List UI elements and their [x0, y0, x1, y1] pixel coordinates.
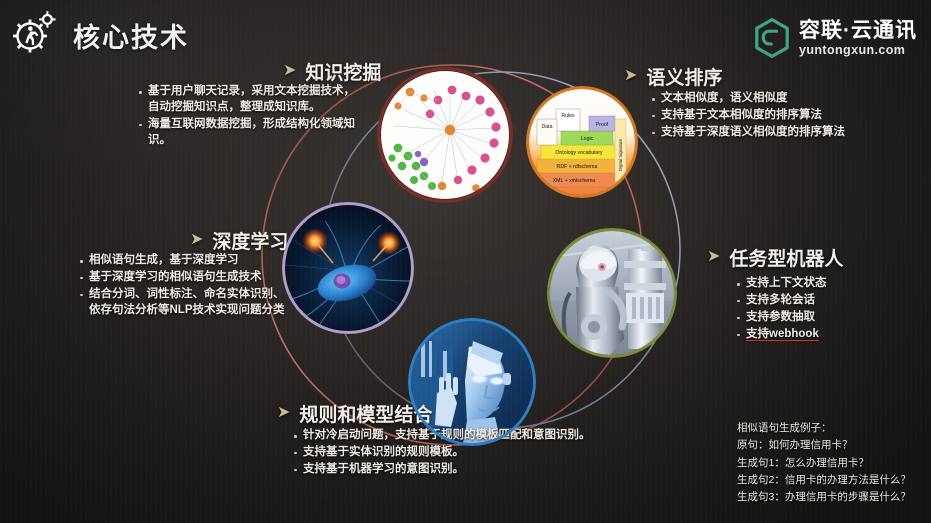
chevron-right-icon: ➤: [283, 63, 296, 79]
list-item: 支持基于文本相似度的排序算法: [650, 108, 925, 124]
example-line: 生成句3：办理信用卡的步骤是什么？: [737, 489, 927, 506]
bullets-deep-learning: 相似语句生成，基于深度学习 基于深度学习的相似语句生成技术 结合分词、词性标注、…: [78, 253, 293, 319]
list-item: 基于用户聊天记录，采用文本挖掘技术，自动挖掘知识点，整理成知识库。: [137, 84, 359, 116]
example-title: 相似语句生成例子：: [737, 420, 927, 437]
list-item: 文本相似度，语义相似度: [650, 91, 925, 107]
example-panel: 相似语句生成例子： 原句：如何办理信用卡？ 生成句1：怎么办理信用卡？ 生成句2…: [737, 420, 927, 507]
chevron-right-icon: ➤: [624, 68, 637, 84]
heading-text: 知识挖掘: [305, 58, 381, 85]
heading-rules-and-models: ➤ 规则和模型结合: [277, 400, 432, 427]
heading-task-robot: ➤ 任务型机器人: [707, 244, 843, 271]
heading-text: 语义排序: [646, 63, 722, 90]
bullets-task-robot: 支持上下文状态 支持多轮会话 支持参数抽取 支持webhook: [735, 276, 930, 343]
blue-robot-ring: [408, 318, 536, 446]
list-item: 支持基于实体识别的规则模板。: [292, 445, 592, 461]
bullets-knowledge-mining: 基于用户聊天记录，采用文本挖掘技术，自动挖掘知识点，整理成知识库。 海量互联网数…: [137, 84, 359, 149]
example-line: 生成句1：怎么办理信用卡？: [737, 455, 927, 472]
knowledge-graph-ring: [377, 67, 513, 203]
slide-core-technology: 核心技术 容联·云通讯 yuntongxun.com: [0, 0, 931, 523]
list-item: 基于深度学习的相似语句生成技术: [78, 270, 293, 286]
blue-robot-image: [408, 318, 536, 446]
list-item: 支持webhook: [735, 327, 930, 343]
list-item: 海量互联网数据挖掘，形成结构化领域知识。: [137, 117, 359, 149]
semantic-web-ring: [526, 86, 638, 198]
list-item: 支持参数抽取: [735, 310, 930, 326]
heading-semantic-ranking: ➤ 语义排序: [624, 63, 722, 90]
list-item: 结合分词、词性标注、命名实体识别、依存句法分析等NLP技术实现问题分类: [78, 287, 293, 319]
example-line: 生成句2：信用卡的办理方法是什么？: [737, 472, 927, 489]
heading-text: 任务型机器人: [729, 244, 843, 271]
chevron-right-icon: ➤: [277, 405, 290, 421]
heading-deep-learning: ➤ 深度学习: [190, 227, 288, 254]
list-item: 支持基于机器学习的意图识别。: [292, 462, 592, 478]
knowledge-graph-image: [377, 67, 513, 203]
chevron-right-icon: ➤: [707, 249, 720, 265]
chevron-right-icon: ➤: [190, 232, 203, 248]
list-item: 支持多轮会话: [735, 293, 930, 309]
robot-ring: [547, 228, 677, 358]
list-item-underlined: 支持webhook: [746, 328, 819, 341]
list-item: 支持上下文状态: [735, 276, 930, 292]
heading-knowledge-mining: ➤ 知识挖掘: [283, 58, 381, 85]
heading-text: 深度学习: [212, 227, 288, 254]
bullets-semantic-ranking: 文本相似度，语义相似度 支持基于文本相似度的排序算法 支持基于深度语义相似度的排…: [650, 91, 925, 142]
example-line: 原句：如何办理信用卡？: [737, 437, 927, 454]
list-item: 支持基于深度语义相似度的排序算法: [650, 125, 925, 141]
neuron-ring: [282, 202, 414, 334]
semantic-web-image: XML + xmlschema RDF + rdfschema Ontology…: [526, 86, 638, 198]
robot-image: [547, 228, 677, 358]
neuron-image: [282, 202, 414, 334]
list-item: 相似语句生成，基于深度学习: [78, 253, 293, 269]
